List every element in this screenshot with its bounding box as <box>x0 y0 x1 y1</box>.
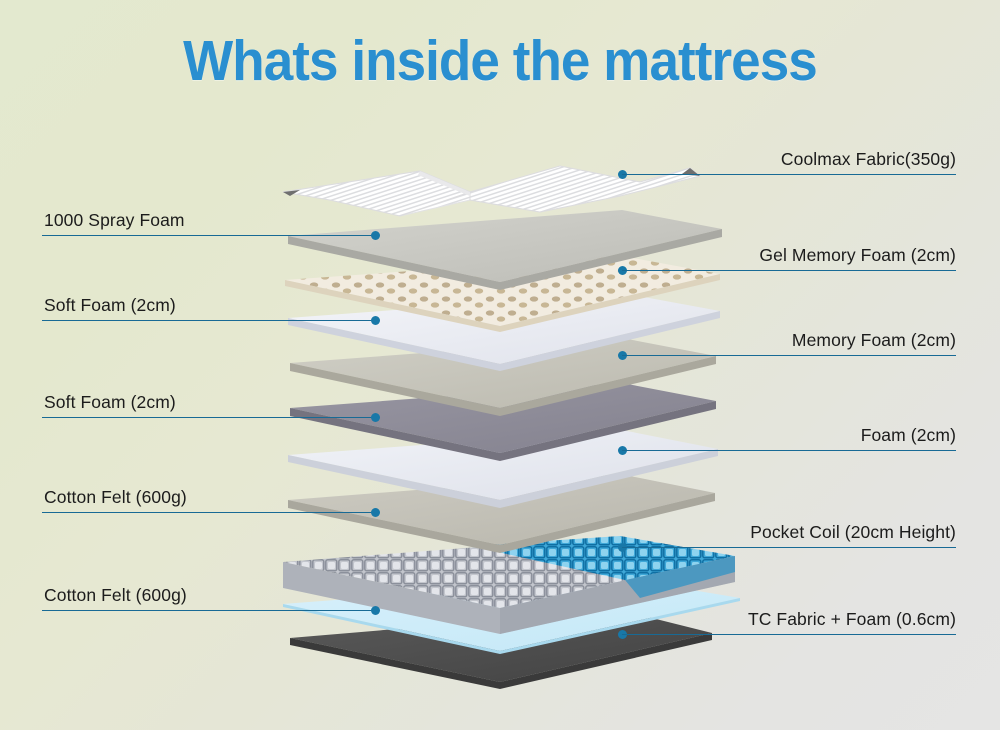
label-tc-fabric-foam: TC Fabric + Foam (0.6cm) <box>748 609 956 630</box>
callout-dot-cotton-felt-2 <box>371 606 380 615</box>
label-soft-foam-2: Soft Foam (2cm) <box>44 392 176 413</box>
cotton-felt-layer-2 <box>283 578 740 654</box>
label-spray-foam: 1000 Spray Foam <box>44 210 185 231</box>
callout-dot-soft-foam-2 <box>371 413 380 422</box>
soft-foam-layer-1 <box>288 293 720 371</box>
leader-line-spray-foam <box>42 235 376 236</box>
label-pocket-coil: Pocket Coil (20cm Height) <box>750 522 956 543</box>
cotton-felt-layer-1 <box>288 474 715 553</box>
leader-line-cotton-felt-2 <box>42 610 376 611</box>
foam-layer <box>288 430 718 508</box>
leader-line-foam <box>622 450 956 451</box>
callout-dot-spray-foam <box>371 231 380 240</box>
leader-line-coolmax-fabric <box>622 174 956 175</box>
mattress-infographic: Whats inside the mattress <box>0 0 1000 730</box>
memory-foam-layer <box>290 338 716 416</box>
label-cotton-felt-1: Cotton Felt (600g) <box>44 487 187 508</box>
spray-foam-layer <box>288 210 722 290</box>
label-soft-foam-1: Soft Foam (2cm) <box>44 295 176 316</box>
label-memory-foam: Memory Foam (2cm) <box>792 330 956 351</box>
page-title: Whats inside the mattress <box>35 28 965 94</box>
leader-line-memory-foam <box>622 355 956 356</box>
callout-dot-cotton-felt-1 <box>371 508 380 517</box>
leader-line-tc-fabric-foam <box>622 634 956 635</box>
label-cotton-felt-2: Cotton Felt (600g) <box>44 585 187 606</box>
leader-line-gel-memory-foam <box>622 270 956 271</box>
leader-line-cotton-felt-1 <box>42 512 376 513</box>
label-foam: Foam (2cm) <box>861 425 956 446</box>
label-gel-memory-foam: Gel Memory Foam (2cm) <box>759 245 956 266</box>
leader-line-soft-foam-1 <box>42 320 376 321</box>
pocket-coil-layer <box>283 536 735 634</box>
label-coolmax-fabric: Coolmax Fabric(350g) <box>781 149 956 170</box>
callout-dot-soft-foam-1 <box>371 316 380 325</box>
leader-line-pocket-coil <box>622 547 956 548</box>
tc-fabric-layer <box>290 610 712 689</box>
leader-line-soft-foam-2 <box>42 417 376 418</box>
